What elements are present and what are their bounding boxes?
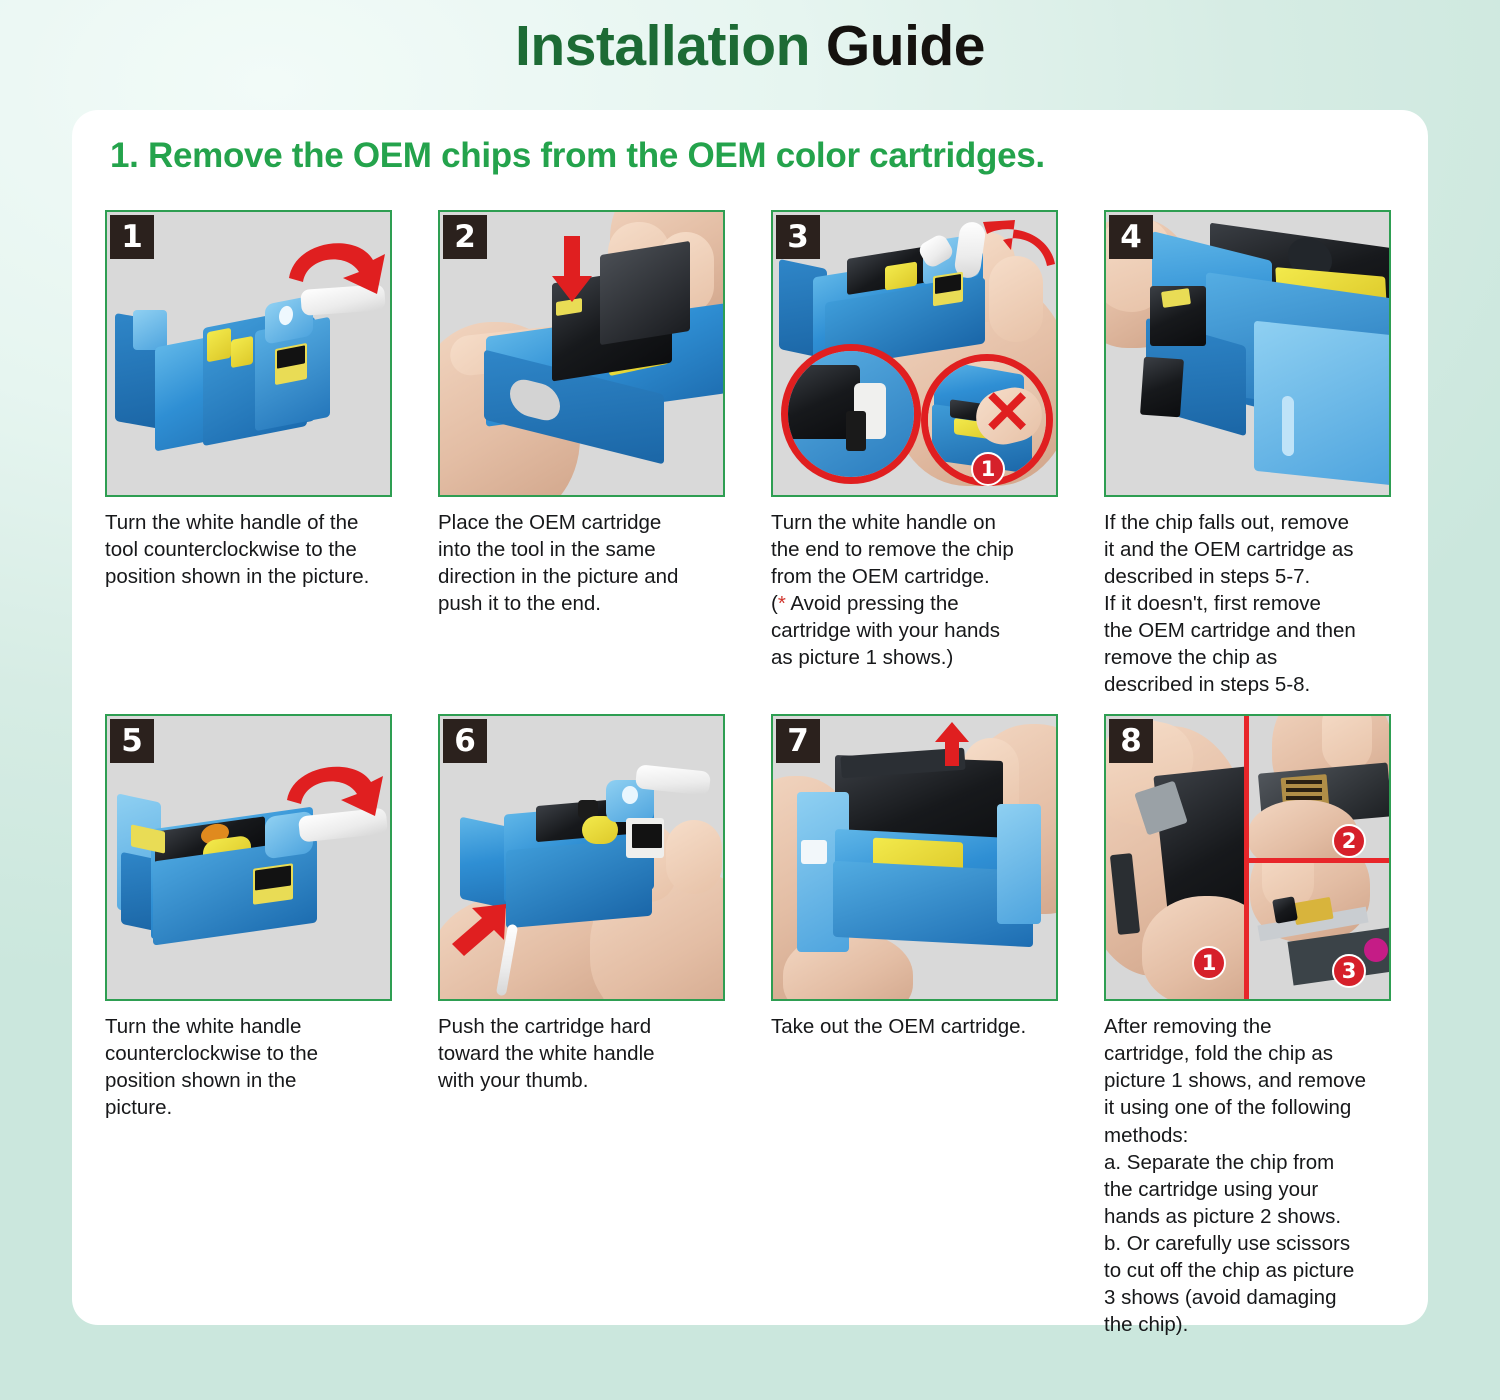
- page-title: Installation Guide: [0, 0, 1500, 92]
- step-item-6: 6: [438, 714, 725, 1338]
- step-number-badge: 3: [776, 215, 820, 259]
- page-title-primary: Installation: [515, 13, 810, 79]
- step-item-2: 2: [438, 210, 725, 698]
- step-photo-1: 1: [105, 210, 392, 497]
- step-number-badge: 2: [443, 215, 487, 259]
- guide-card: 1. Remove the OEM chips from the OEM col…: [72, 110, 1428, 1325]
- step-item-3: 3: [771, 210, 1058, 698]
- step-caption: Turn the white handle counterclockwise t…: [105, 1013, 392, 1121]
- arrow-icon: [552, 236, 592, 304]
- step-photo-7: 7: [771, 714, 1058, 1001]
- step-caption: Turn the white handle of the tool counte…: [105, 509, 392, 590]
- step-caption: Place the OEM cartridge into the tool in…: [438, 509, 725, 617]
- step-caption: Push the cartridge hard toward the white…: [438, 1013, 725, 1094]
- step-photo-4: 4: [1104, 210, 1391, 497]
- arrow-icon: [935, 722, 969, 766]
- step-number-badge: 8: [1109, 719, 1153, 763]
- step-number-badge: 6: [443, 719, 487, 763]
- caption-text-post: Avoid pressing the cartridge with your h…: [771, 592, 1000, 669]
- caption-asterisk: *: [778, 592, 786, 615]
- detail-circle-left: [781, 344, 921, 484]
- step-caption: Take out the OEM cartridge.: [771, 1013, 1058, 1040]
- step-item-7: 7: [771, 714, 1058, 1338]
- marker-badge-1: 1: [971, 452, 1005, 486]
- step-item-8: 8: [1104, 714, 1391, 1338]
- step-caption: Turn the white handle on the end to remo…: [771, 509, 1058, 671]
- arrow-icon: [979, 220, 1058, 272]
- step-caption: If the chip falls out, remove it and the…: [1104, 509, 1391, 698]
- step-caption: After removing the cartridge, fold the c…: [1104, 1013, 1391, 1338]
- step-photo-8: 8: [1104, 714, 1391, 1001]
- page-title-secondary: Guide: [826, 13, 985, 79]
- step-item-4: 4 If the chip falls out, r: [1104, 210, 1391, 698]
- step-number-badge: 7: [776, 719, 820, 763]
- step-photo-5: 5: [105, 714, 392, 1001]
- step-photo-6: 6: [438, 714, 725, 1001]
- step-item-5: 5: [105, 714, 392, 1338]
- section-heading: 1. Remove the OEM chips from the OEM col…: [110, 136, 1045, 176]
- step-photo-3: 3: [771, 210, 1058, 497]
- steps-grid: 1: [105, 210, 1395, 1338]
- step-item-1: 1: [105, 210, 392, 698]
- step-number-badge: 4: [1109, 215, 1153, 259]
- step-number-badge: 1: [110, 215, 154, 259]
- step-number-badge: 5: [110, 719, 154, 763]
- arrow-icon: [450, 902, 508, 960]
- step-photo-2: 2: [438, 210, 725, 497]
- arrow-icon: [285, 234, 392, 304]
- arrow-icon: [283, 758, 392, 826]
